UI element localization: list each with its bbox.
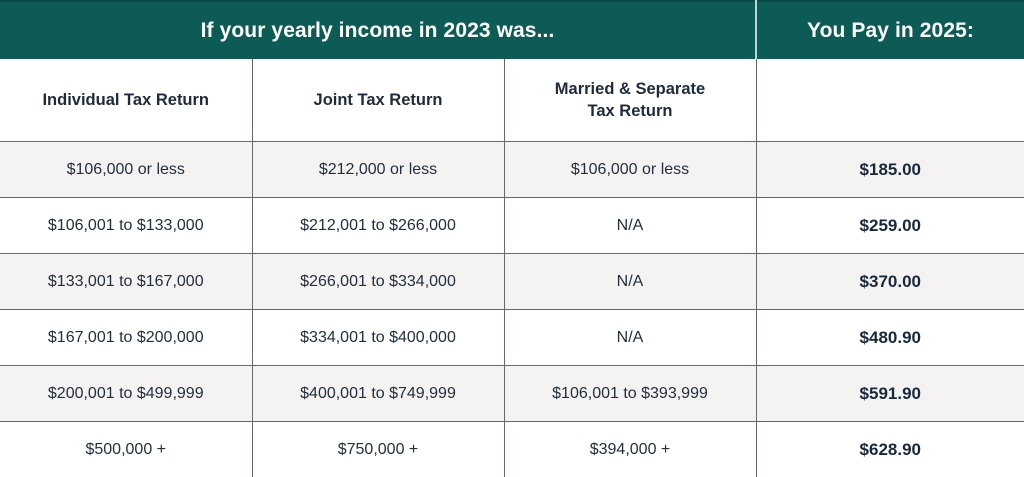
column-header-row: Individual Tax Return Joint Tax Return M… — [0, 59, 1024, 142]
cell-premium: $591.90 — [756, 366, 1024, 422]
table-banner-row: If your yearly income in 2023 was... You… — [0, 1, 1024, 59]
table-row: $106,001 to $133,000 $212,001 to $266,00… — [0, 198, 1024, 254]
column-header-joint: Joint Tax Return — [252, 59, 504, 142]
cell-joint: $212,001 to $266,000 — [252, 198, 504, 254]
cell-married-separate: N/A — [504, 254, 756, 310]
table-body: $106,000 or less $212,000 or less $106,0… — [0, 142, 1024, 477]
cell-married-separate: $106,001 to $393,999 — [504, 366, 756, 422]
column-header-individual: Individual Tax Return — [0, 59, 252, 142]
cell-premium: $370.00 — [756, 254, 1024, 310]
cell-premium: $480.90 — [756, 310, 1024, 366]
column-header-married-separate-line2: Tax Return — [588, 102, 673, 120]
table-row: $106,000 or less $212,000 or less $106,0… — [0, 142, 1024, 198]
table-row: $133,001 to $167,000 $266,001 to $334,00… — [0, 254, 1024, 310]
cell-individual: $133,001 to $167,000 — [0, 254, 252, 310]
income-banner-title: If your yearly income in 2023 was... — [0, 1, 756, 59]
pay-banner-title: You Pay in 2025: — [756, 1, 1024, 59]
irmaa-premium-table: If your yearly income in 2023 was... You… — [0, 0, 1024, 477]
cell-married-separate: $106,000 or less — [504, 142, 756, 198]
cell-premium: $185.00 — [756, 142, 1024, 198]
cell-joint: $212,000 or less — [252, 142, 504, 198]
cell-joint: $334,001 to $400,000 — [252, 310, 504, 366]
column-header-married-separate-line1: Married & Separate — [555, 80, 705, 98]
cell-joint: $400,001 to $749,999 — [252, 366, 504, 422]
column-header-married-separate: Married & Separate Tax Return — [504, 59, 756, 142]
table-row: $167,001 to $200,000 $334,001 to $400,00… — [0, 310, 1024, 366]
cell-individual: $106,000 or less — [0, 142, 252, 198]
cell-married-separate: N/A — [504, 310, 756, 366]
cell-individual: $200,001 to $499,999 — [0, 366, 252, 422]
cell-premium: $259.00 — [756, 198, 1024, 254]
cell-joint: $266,001 to $334,000 — [252, 254, 504, 310]
table-row: $200,001 to $499,999 $400,001 to $749,99… — [0, 366, 1024, 422]
cell-individual: $167,001 to $200,000 — [0, 310, 252, 366]
cell-married-separate: N/A — [504, 198, 756, 254]
column-header-pay — [756, 59, 1024, 142]
cell-individual: $106,001 to $133,000 — [0, 198, 252, 254]
